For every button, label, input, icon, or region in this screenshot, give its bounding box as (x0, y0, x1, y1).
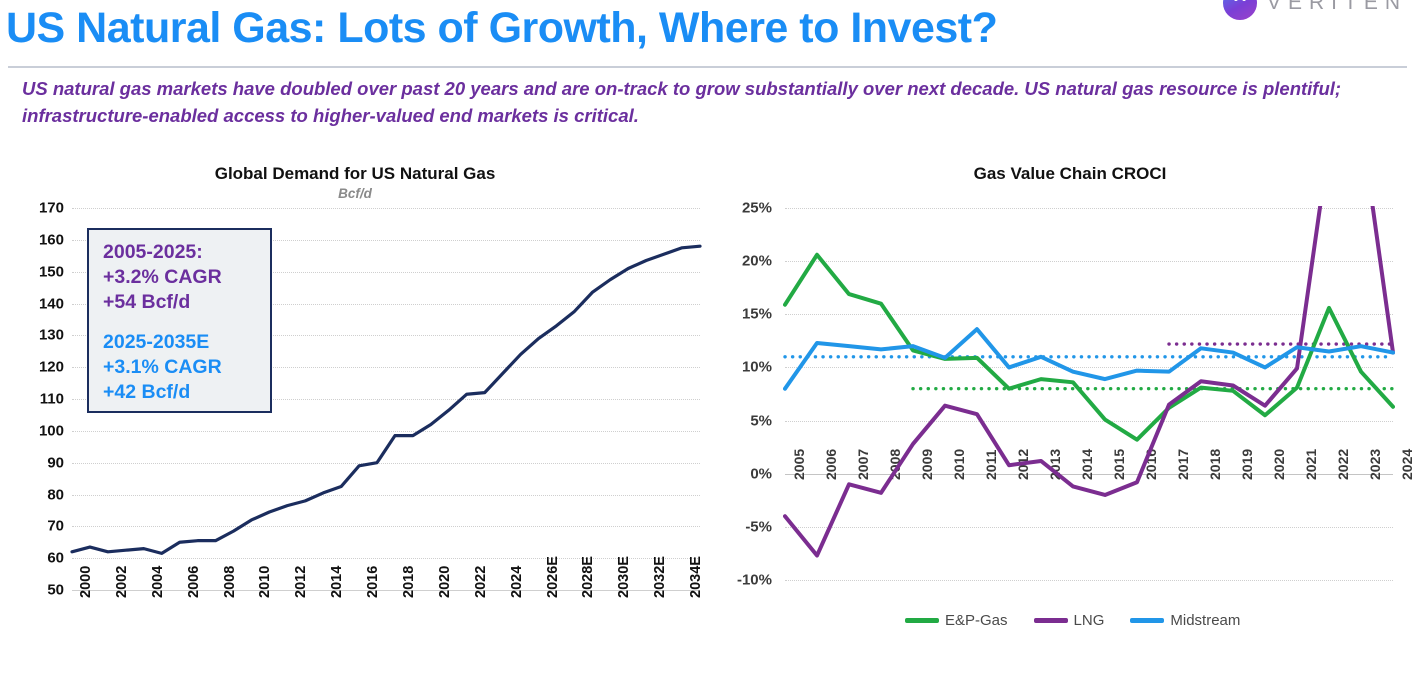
chart-gas-value-chain-croci: Gas Value Chain CROCI -10%-5%0%5%10%15%2… (710, 150, 1415, 680)
brand-logo: VERITEN (1223, 0, 1407, 20)
title-divider (8, 66, 1407, 68)
cagr-callout-box: 2005-2025: +3.2% CAGR +54 Bcf/d 2025-203… (87, 228, 272, 413)
callout-line-2: +3.2% CAGR (103, 265, 256, 290)
legend-item-midstream[interactable]: Midstream (1130, 612, 1240, 629)
legend-label-ep-gas: E&P-Gas (945, 612, 1008, 629)
right-series-lines (710, 150, 1415, 680)
veriten-shield-icon (1223, 0, 1257, 20)
legend-label-midstream: Midstream (1170, 612, 1240, 629)
callout-line-3: +54 Bcf/d (103, 290, 256, 315)
callout-line-6: +42 Bcf/d (103, 380, 256, 405)
callout-group-1: 2005-2025: +3.2% CAGR +54 Bcf/d (103, 240, 256, 315)
brand-wordmark: VERITEN (1267, 0, 1407, 15)
right-plot-area: -10%-5%0%5%10%15%20%25%20052006200720082… (710, 150, 1415, 680)
right-chart-legend: E&P-Gas LNG Midstream (905, 612, 1240, 629)
legend-item-ep-gas[interactable]: E&P-Gas (905, 612, 1008, 629)
legend-swatch-midstream (1130, 618, 1164, 623)
callout-line-5: +3.1% CAGR (103, 355, 256, 380)
callout-line-1: 2005-2025: (103, 240, 256, 265)
callout-group-2: 2025-2035E +3.1% CAGR +42 Bcf/d (103, 330, 256, 405)
legend-item-lng[interactable]: LNG (1034, 612, 1105, 629)
slide-canvas: VERITEN US Natural Gas: Lots of Growth, … (0, 0, 1415, 680)
callout-line-4: 2025-2035E (103, 330, 256, 355)
legend-swatch-lng (1034, 618, 1068, 623)
legend-label-lng: LNG (1074, 612, 1105, 629)
legend-swatch-ep-gas (905, 618, 939, 623)
page-subtitle: US natural gas markets have doubled over… (22, 76, 1392, 130)
page-title: US Natural Gas: Lots of Growth, Where to… (6, 6, 997, 51)
